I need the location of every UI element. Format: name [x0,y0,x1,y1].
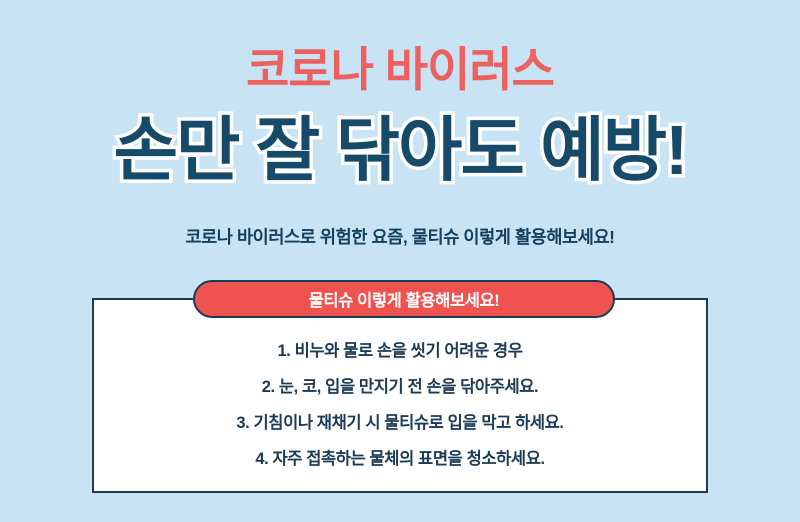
list-item: 3. 기침이나 재채기 시 물티슈로 입을 막고 하세요. [236,405,563,441]
tips-badge: 물티슈 이렇게 활용해보세요! [193,280,615,318]
subtitle: 코로나 바이러스로 위험한 요즘, 물티슈 이렇게 활용해보세요! [0,224,800,250]
main-headline: 손만 잘 닦아도 예방! [0,104,800,196]
tips-list: 1. 비누와 물로 손을 씻기 어려운 경우 2. 눈, 코, 입을 만지기 전… [92,333,708,477]
poster-canvas: 코로나 바이러스 손만 잘 닦아도 예방! 코로나 바이러스로 위험한 요즘, … [0,0,800,522]
tips-badge-label: 물티슈 이렇게 활용해보세요! [309,287,500,311]
list-item: 2. 눈, 코, 입을 만지기 전 손을 닦아주세요. [262,369,539,405]
list-item: 1. 비누와 물로 손을 씻기 어려운 경우 [278,333,523,369]
list-item: 4. 자주 접촉하는 물체의 표면을 청소하세요. [255,441,544,477]
top-title: 코로나 바이러스 [0,42,800,98]
